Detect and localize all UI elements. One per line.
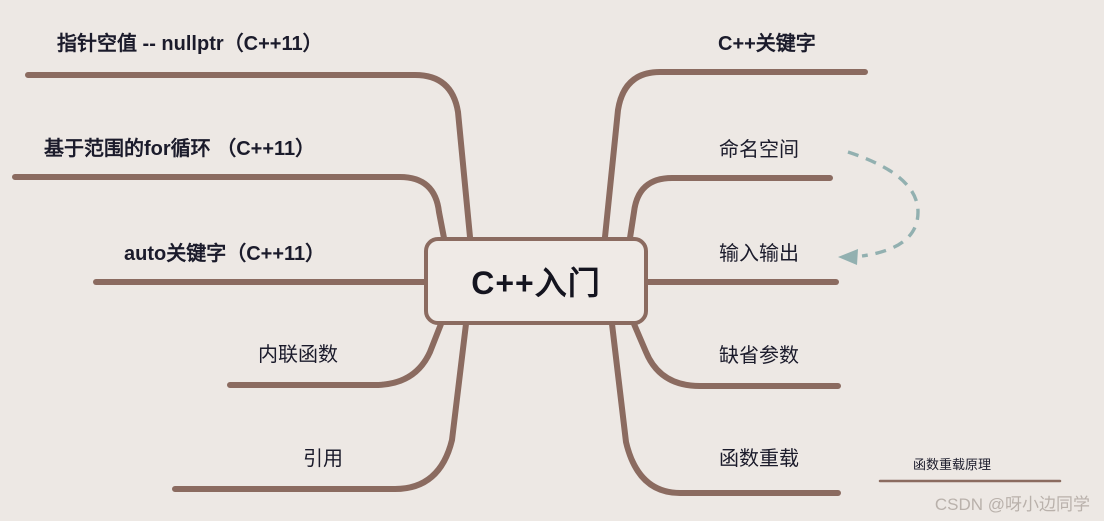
branch-line-left-2 bbox=[15, 177, 444, 238]
branch-label-right-3[interactable]: 输入输出 bbox=[719, 244, 799, 264]
branch-label-left-2[interactable]: 基于范围的for循环 （C++11） bbox=[44, 139, 315, 159]
branch-label-right-4[interactable]: 缺省参数 bbox=[719, 346, 799, 366]
branch-label-right-2[interactable]: 命名空间 bbox=[719, 140, 799, 160]
branch-label-left-4[interactable]: 内联函数 bbox=[258, 345, 338, 365]
branch-label-right-1[interactable]: C++关键字 bbox=[718, 34, 816, 54]
center-node-label: C++入门 bbox=[471, 258, 601, 304]
dashed-arrow-head-icon bbox=[838, 249, 858, 265]
branch-label-left-1[interactable]: 指针空值 -- nullptr（C++11） bbox=[57, 34, 323, 54]
csdn-watermark: CSDN @呀小边同学 bbox=[935, 490, 1090, 515]
branch-label-left-5[interactable]: 引用 bbox=[303, 449, 343, 469]
branch-label-right-5[interactable]: 函数重载 bbox=[719, 449, 799, 469]
branch-line-right-2 bbox=[630, 178, 830, 238]
center-node[interactable]: C++入门 bbox=[424, 237, 648, 325]
branch-label-left-3[interactable]: auto关键字（C++11） bbox=[124, 244, 325, 264]
mind-map-canvas: C++入门 指针空值 -- nullptr（C++11） 基于范围的for循环 … bbox=[0, 0, 1104, 521]
dashed-curved-arrow bbox=[848, 152, 918, 256]
branch-label-right-5-child-1[interactable]: 函数重载原理 bbox=[913, 458, 991, 471]
